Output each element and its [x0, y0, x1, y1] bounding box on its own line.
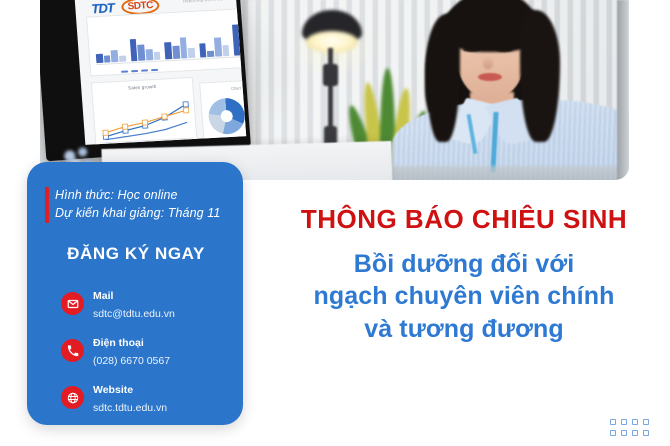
contact-website[interactable]: Website sdtc.tdtu.edu.vn	[61, 380, 227, 416]
contact-mail-value: sdtc@tdtu.edu.vn	[93, 308, 175, 320]
contact-website-label: Website	[93, 384, 133, 396]
contact-mail-label: Mail	[93, 290, 113, 302]
contact-phone-label: Điện thoại	[93, 337, 144, 349]
hair-side-right	[520, 10, 560, 142]
dot	[643, 430, 649, 436]
line-chart-panel: Sales growth	[91, 77, 198, 145]
registration-card: Hình thức: Học online Dự kiến khai giảng…	[27, 162, 243, 425]
dot	[621, 430, 627, 436]
contact-website-value: sdtc.tdtu.edu.vn	[93, 402, 167, 414]
bar-chart-panel	[86, 7, 246, 77]
phone-icon	[61, 339, 84, 362]
bar-chart-legend	[121, 69, 158, 73]
hair-side-left	[426, 14, 460, 142]
dashboard-title: Reporting Overview	[183, 0, 224, 3]
hero-photo: TDT SDTC Reporting Overview	[40, 0, 629, 180]
lips	[478, 73, 502, 81]
dot	[621, 419, 627, 425]
donut-chart-large	[207, 97, 246, 135]
dot-grid-decoration	[610, 419, 649, 436]
contact-mail[interactable]: Mail sdtc@tdtu.edu.vn	[61, 286, 227, 322]
headline-line-1: Bồi dưỡng đối với	[258, 248, 670, 281]
contact-phone-value: (028) 6670 0567	[93, 355, 170, 367]
line-chart-svg	[93, 90, 199, 145]
dot	[610, 419, 616, 425]
mail-icon	[61, 292, 84, 315]
nose	[483, 56, 493, 69]
contact-phone[interactable]: Điện thoại (028) 6670 0567	[61, 333, 227, 369]
register-now-heading[interactable]: ĐĂNG KÝ NGAY	[45, 244, 227, 264]
monitor-screen: TDT SDTC Reporting Overview	[75, 0, 247, 145]
headline-line-2: ngạch chuyên viên chính	[258, 280, 670, 313]
headline-block: THÔNG BÁO CHIÊU SINH Bồi dưỡng đối với n…	[258, 205, 670, 345]
dot	[610, 430, 616, 436]
contact-list: Mail sdtc@tdtu.edu.vn Điện thoại (028) 6…	[45, 286, 227, 415]
dot	[632, 419, 638, 425]
dot	[643, 419, 649, 425]
pie-chart-title: Chart 1	[201, 84, 247, 93]
dot	[632, 430, 638, 436]
headline-text: Bồi dưỡng đối với ngạch chuyên viên chín…	[258, 248, 670, 346]
desk-lamp-joint-upper	[323, 64, 338, 86]
note-line-format: Hình thức: Học online	[55, 186, 227, 204]
note-line-start-date: Dự kiến khai giảng: Tháng 11	[55, 204, 227, 222]
desktop-monitor: TDT SDTC Reporting Overview	[40, 0, 251, 161]
course-info-note: Hình thức: Học online Dự kiến khai giảng…	[45, 186, 227, 222]
pie-chart-panel: Chart 1	[199, 78, 246, 142]
globe-icon	[61, 386, 84, 409]
person-photo	[370, 0, 629, 180]
window-frame-right	[617, 0, 629, 180]
headline-line-3: và tương đương	[258, 313, 670, 346]
tdt-logo: TDT	[91, 0, 114, 16]
announcement-banner: TDT SDTC Reporting Overview	[0, 0, 670, 446]
kicker-text: THÔNG BÁO CHIÊU SINH	[258, 205, 670, 234]
